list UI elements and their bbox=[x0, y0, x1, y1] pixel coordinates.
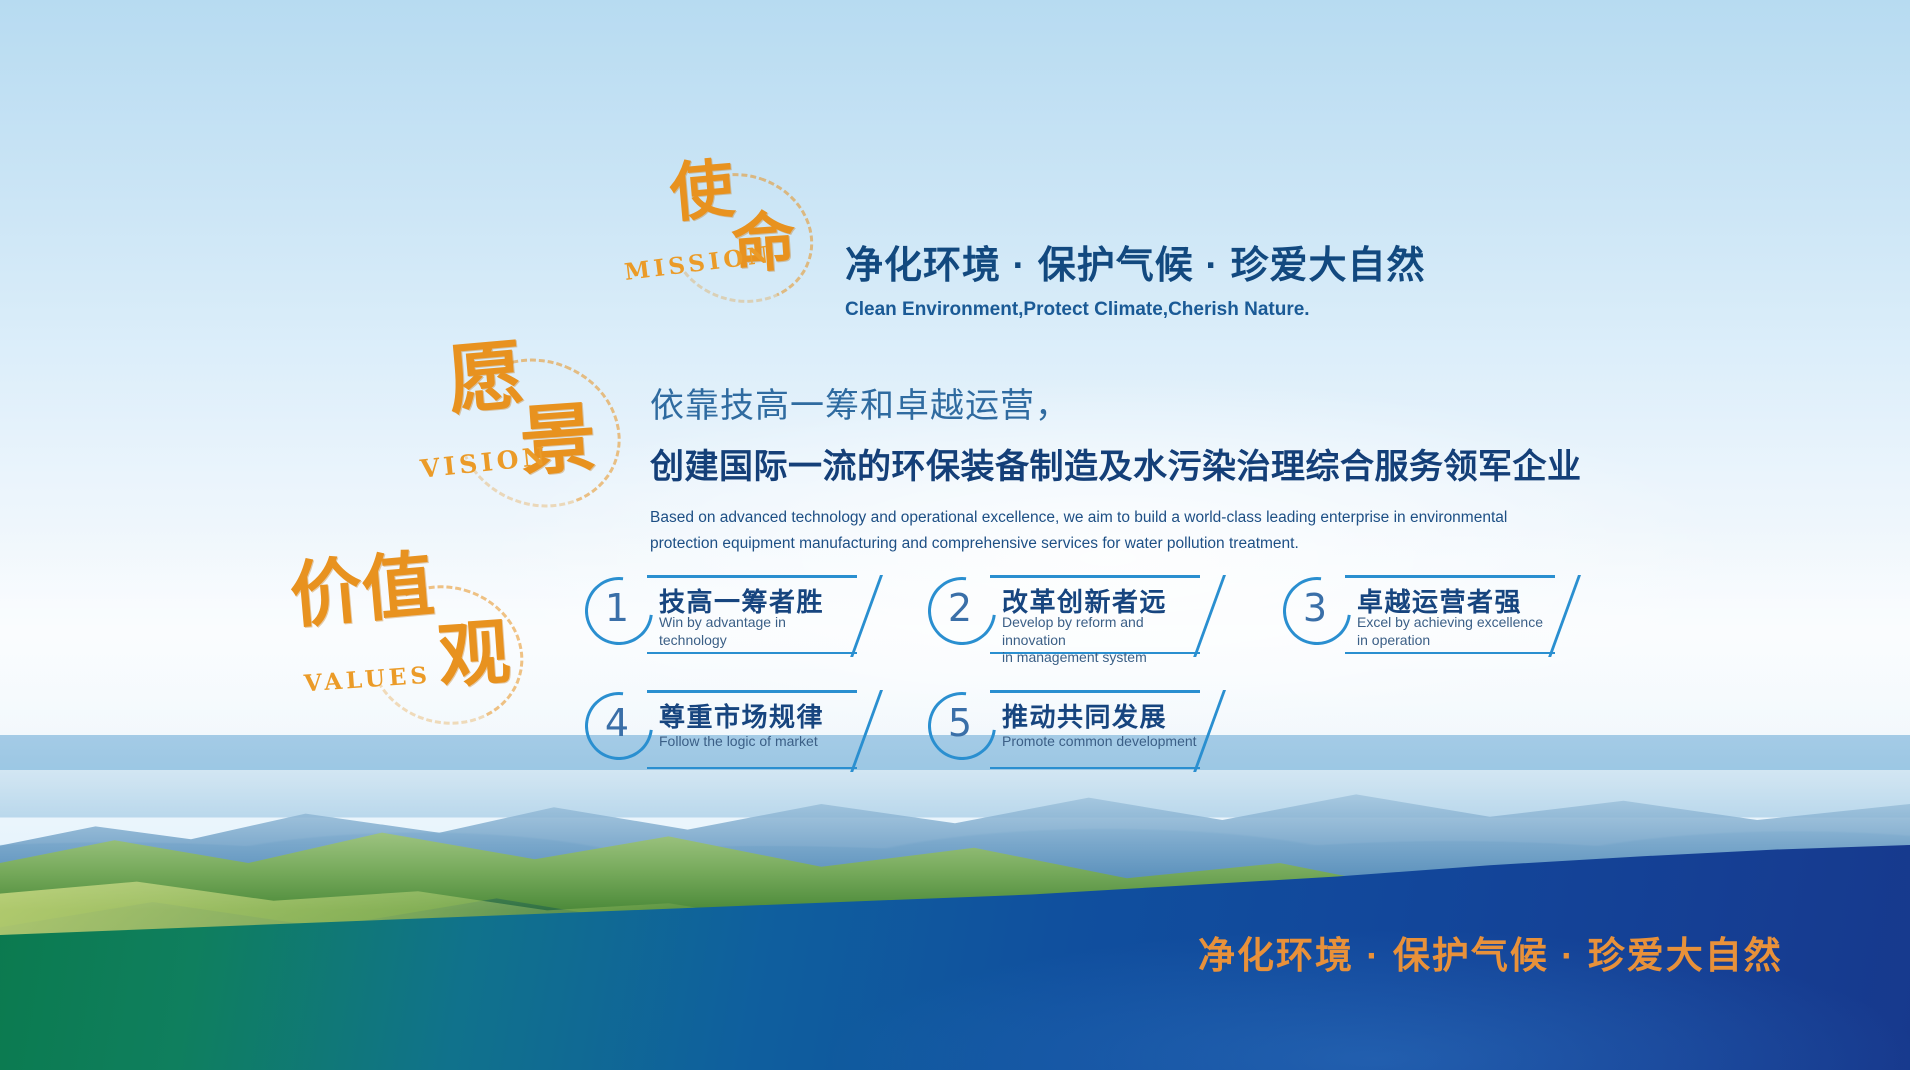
vision-calligraphy-mark: 愿 景 VISION bbox=[420, 340, 680, 510]
value-card-title-en: Promote common development bbox=[1002, 733, 1197, 751]
value-card-title-en: Win by advantage in technology bbox=[659, 614, 786, 649]
vision-glyph-1: 愿 bbox=[445, 337, 527, 419]
values-calligraphy-mark: 价值 观 VALUES bbox=[290, 550, 560, 730]
values-glyph-1: 价值 bbox=[287, 548, 437, 632]
vision-line2-cn: 创建国际一流的环保装备制造及水污染治理综合服务领军企业 bbox=[650, 439, 1582, 488]
mission-text-block: 净化环境 · 保护气候 · 珍爱大自然 Clean Environment,Pr… bbox=[845, 234, 1426, 321]
value-card-number: 5 bbox=[940, 702, 980, 744]
value-card-plate: 技高一筹者胜 Win by advantage in technology bbox=[647, 575, 857, 654]
value-card-number: 4 bbox=[597, 702, 637, 744]
vision-line1-cn: 依靠技高一筹和卓越运营， bbox=[650, 378, 1582, 427]
mission-glyph-1: 使 bbox=[667, 157, 736, 226]
value-card-plate: 推动共同发展 Promote common development bbox=[990, 690, 1200, 769]
mission-headline-en: Clean Environment,Protect Climate,Cheris… bbox=[845, 299, 1426, 321]
footer-slogan: 净化环境 · 保护气候 · 珍爱大自然 bbox=[1198, 925, 1783, 979]
vision-paragraph-en: Based on advanced technology and operati… bbox=[650, 505, 1530, 556]
value-card-plate: 改革创新者远 Develop by reform and innovation … bbox=[990, 575, 1200, 654]
value-card-plate: 卓越运营者强 Excel by achieving excellence in … bbox=[1345, 575, 1555, 654]
value-card-number: 3 bbox=[1295, 587, 1335, 629]
value-card-number: 2 bbox=[940, 587, 980, 629]
value-card-number: 1 bbox=[597, 587, 637, 629]
value-card-title-en: Follow the logic of market bbox=[659, 733, 818, 751]
value-card-plate: 尊重市场规律 Follow the logic of market bbox=[647, 690, 857, 769]
value-card-title-cn: 尊重市场规律 bbox=[659, 697, 824, 734]
poster-canvas: 使 命 MISSION 净化环境 · 保护气候 · 珍爱大自然 Clean En… bbox=[0, 0, 1910, 1070]
mission-headline-cn: 净化环境 · 保护气候 · 珍爱大自然 bbox=[845, 234, 1426, 289]
value-card-title-en: Develop by reform and innovation in mana… bbox=[1002, 614, 1200, 667]
value-card-title-cn: 推动共同发展 bbox=[1002, 697, 1167, 734]
value-card-title-en: Excel by achieving excellence in operati… bbox=[1357, 614, 1543, 649]
mission-calligraphy-mark: 使 命 MISSION bbox=[620, 160, 870, 310]
values-glyph-2: 观 bbox=[436, 616, 513, 693]
vision-text-block: 依靠技高一筹和卓越运营， 创建国际一流的环保装备制造及水污染治理综合服务领军企业… bbox=[650, 378, 1582, 556]
